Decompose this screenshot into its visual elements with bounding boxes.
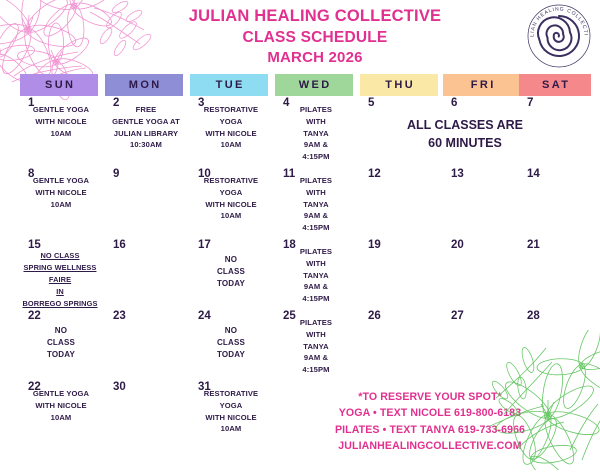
- day-event-line: WITH NICOLE: [26, 400, 96, 412]
- calendar-day-cell[interactable]: 13: [443, 167, 521, 238]
- spiral-icon: [538, 16, 579, 56]
- day-event-line: YOGA: [196, 116, 266, 128]
- day-event-line: 10AM: [26, 412, 96, 424]
- day-event-line: TANYA: [281, 199, 351, 211]
- day-event-line: FREE: [111, 104, 181, 116]
- day-event-line: RESTORATIVE: [196, 104, 266, 116]
- calendar-day-cell[interactable]: 20: [443, 238, 521, 309]
- day-event-line: PILATES: [281, 104, 351, 116]
- day-event-text: RESTORATIVEYOGAWITH NICOLE10AM: [196, 175, 266, 222]
- page-subtitle: CLASS SCHEDULE: [150, 28, 480, 48]
- day-event-line: NO: [196, 325, 266, 337]
- day-event-line: IN: [22, 286, 98, 298]
- all-classes-note-line-2: 60 MINUTES: [340, 134, 590, 152]
- day-event-line: GENTLE YOGA AT: [111, 116, 181, 128]
- day-event-text: FREEGENTLE YOGA ATJULIAN LIBRARY10:30AM: [111, 104, 181, 151]
- calendar-day-cell[interactable]: 22NOCLASSTODAY: [20, 309, 98, 380]
- day-event-line: 10AM: [196, 210, 266, 222]
- day-event-line: JULIAN LIBRARY: [111, 128, 181, 140]
- calendar-week-row: 15NO CLASSSPRING WELLNESS FAIREINBORREGO…: [0, 238, 600, 309]
- day-event-line: WITH NICOLE: [196, 128, 266, 140]
- calendar-day-cell[interactable]: 3RESTORATIVEYOGAWITH NICOLE10AM: [190, 96, 268, 167]
- day-event-text: PILATESWITHTANYA9AM &4:15PM: [281, 317, 351, 376]
- day-event-line: CLASS: [196, 266, 266, 278]
- weekday-header-row: SUNMONTUEWEDTHUFRISAT: [0, 74, 600, 96]
- day-event-line: 10AM: [26, 199, 96, 211]
- day-event-line: TANYA: [281, 341, 351, 353]
- calendar-day-cell[interactable]: 30: [105, 380, 183, 464]
- day-event-line: WITH NICOLE: [26, 116, 96, 128]
- calendar-week-row: 22NOCLASSTODAY2324NOCLASSTODAY25PILATESW…: [0, 309, 600, 380]
- day-event-text: PILATESWITHTANYA9AM &4:15PM: [281, 246, 351, 305]
- day-event-line: NO CLASS: [22, 250, 98, 262]
- day-event-line: 4:15PM: [281, 151, 351, 163]
- day-event-text: NOCLASSTODAY: [196, 325, 266, 361]
- day-event-line: 4:15PM: [281, 364, 351, 376]
- day-event-line: NO: [26, 325, 96, 337]
- day-number: 19: [368, 239, 381, 252]
- calendar-day-cell[interactable]: 28: [519, 309, 591, 380]
- weekday-header-sun: SUN: [20, 74, 98, 96]
- day-event-line: TODAY: [26, 349, 96, 361]
- day-number: 23: [113, 310, 126, 323]
- calendar-day-cell[interactable]: 22GENTLE YOGAWITH NICOLE10AM: [20, 380, 98, 464]
- calendar-day-cell[interactable]: 2FREEGENTLE YOGA ATJULIAN LIBRARY10:30AM: [105, 96, 183, 167]
- day-event-line: 10AM: [26, 128, 96, 140]
- weekday-header-wed: WED: [275, 74, 353, 96]
- calendar-day-cell[interactable]: 14: [519, 167, 591, 238]
- weekday-header-tue: TUE: [190, 74, 268, 96]
- calendar-day-cell[interactable]: 12: [360, 167, 438, 238]
- brand-logo: JULIAN HEALING COLLECTIVE: [526, 3, 592, 69]
- day-event-line: WITH: [281, 258, 351, 270]
- day-event-line: 10AM: [196, 139, 266, 151]
- day-event-text: NOCLASSTODAY: [26, 325, 96, 361]
- day-event-text: NOCLASSTODAY: [196, 254, 266, 290]
- calendar-day-cell[interactable]: 16: [105, 238, 183, 309]
- calendar-day-cell[interactable]: 23: [105, 309, 183, 380]
- footer-line-reserve: *TO RESERVE YOUR SPOT*: [285, 389, 575, 405]
- calendar-day-cell[interactable]: 31RESTORATIVEYOGAWITH NICOLE10AM: [190, 380, 268, 464]
- title-block: JULIAN HEALING COLLECTIVE CLASS SCHEDULE…: [150, 6, 480, 68]
- page-month: MARCH 2026: [150, 48, 480, 68]
- day-event-line: 4:15PM: [281, 293, 351, 305]
- calendar-day-cell[interactable]: 27: [443, 309, 521, 380]
- calendar-day-cell[interactable]: 8GENTLE YOGAWITH NICOLE10AM: [20, 167, 98, 238]
- day-event-text: NO CLASSSPRING WELLNESS FAIREINBORREGO S…: [22, 250, 98, 310]
- calendar-week-row: 8GENTLE YOGAWITH NICOLE10AM910RESTORATIV…: [0, 167, 600, 238]
- day-event-line: PILATES: [281, 175, 351, 187]
- weekday-header-mon: MON: [105, 74, 183, 96]
- calendar-day-cell[interactable]: 21: [519, 238, 591, 309]
- day-number: 16: [113, 239, 126, 252]
- day-event-text: GENTLE YOGAWITH NICOLE10AM: [26, 104, 96, 139]
- day-event-line: TANYA: [281, 270, 351, 282]
- day-event-line: 9AM &: [281, 281, 351, 293]
- day-event-line: YOGA: [196, 400, 266, 412]
- day-event-line: NO: [196, 254, 266, 266]
- day-number: 26: [368, 310, 381, 323]
- day-event-line: WITH NICOLE: [196, 412, 266, 424]
- day-number: 21: [527, 239, 540, 252]
- day-event-line: GENTLE YOGA: [26, 104, 96, 116]
- day-event-line: GENTLE YOGA: [26, 388, 96, 400]
- weekday-header-sat: SAT: [519, 74, 591, 96]
- day-event-line: PILATES: [281, 317, 351, 329]
- day-event-line: RESTORATIVE: [196, 388, 266, 400]
- day-event-line: RESTORATIVE: [196, 175, 266, 187]
- day-event-text: RESTORATIVEYOGAWITH NICOLE10AM: [196, 388, 266, 435]
- page-header: JULIAN HEALING COLLECTIVE CLASS SCHEDULE…: [0, 0, 600, 72]
- day-event-text: GENTLE YOGAWITH NICOLE10AM: [26, 175, 96, 210]
- day-number: 27: [451, 310, 464, 323]
- footer-line-yoga: YOGA • TEXT NICOLE 619-800-6183: [285, 405, 575, 421]
- calendar-day-cell[interactable]: 1GENTLE YOGAWITH NICOLE10AM: [20, 96, 98, 167]
- calendar-day-cell[interactable]: 18PILATESWITHTANYA9AM &4:15PM: [275, 238, 353, 309]
- day-event-line: YOGA: [196, 187, 266, 199]
- calendar-day-cell[interactable]: 11PILATESWITHTANYA9AM &4:15PM: [275, 167, 353, 238]
- day-event-line: GENTLE YOGA: [26, 175, 96, 187]
- calendar-day-cell[interactable]: 26: [360, 309, 438, 380]
- day-event-line: WITH NICOLE: [26, 187, 96, 199]
- weekday-header-fri: FRI: [443, 74, 521, 96]
- calendar-day-cell[interactable]: 9: [105, 167, 183, 238]
- day-event-line: SPRING WELLNESS FAIRE: [22, 262, 98, 286]
- contact-footer: *TO RESERVE YOUR SPOT* YOGA • TEXT NICOL…: [285, 389, 575, 455]
- day-event-text: GENTLE YOGAWITH NICOLE10AM: [26, 388, 96, 423]
- day-event-line: TODAY: [196, 278, 266, 290]
- day-number: 20: [451, 239, 464, 252]
- day-event-line: PILATES: [281, 246, 351, 258]
- calendar-day-cell[interactable]: 15NO CLASSSPRING WELLNESS FAIREINBORREGO…: [20, 238, 98, 309]
- day-event-line: CLASS: [196, 337, 266, 349]
- page-title: JULIAN HEALING COLLECTIVE: [150, 6, 480, 28]
- all-classes-note: ALL CLASSES ARE 60 MINUTES: [340, 116, 590, 152]
- day-number: 6: [451, 97, 457, 110]
- day-number: 30: [113, 381, 126, 394]
- day-number: 17: [198, 239, 211, 252]
- footer-line-pilates: PILATES • TEXT TANYA 619-733-6966: [285, 422, 575, 438]
- day-event-line: 4:15PM: [281, 222, 351, 234]
- day-event-text: PILATESWITHTANYA9AM &4:15PM: [281, 175, 351, 234]
- calendar-day-cell[interactable]: 25PILATESWITHTANYA9AM &4:15PM: [275, 309, 353, 380]
- day-number: 7: [527, 97, 533, 110]
- day-number: 5: [368, 97, 374, 110]
- day-event-line: 10:30AM: [111, 139, 181, 151]
- day-event-line: WITH NICOLE: [196, 199, 266, 211]
- day-event-text: RESTORATIVEYOGAWITH NICOLE10AM: [196, 104, 266, 151]
- calendar-day-cell[interactable]: 17NOCLASSTODAY: [190, 238, 268, 309]
- day-number: 22: [28, 310, 41, 323]
- day-number: 12: [368, 168, 381, 181]
- day-number: 14: [527, 168, 540, 181]
- day-number: 13: [451, 168, 464, 181]
- day-event-line: CLASS: [26, 337, 96, 349]
- day-number: 28: [527, 310, 540, 323]
- day-event-line: WITH: [281, 187, 351, 199]
- all-classes-note-line-1: ALL CLASSES ARE: [340, 116, 590, 134]
- day-event-line: 9AM &: [281, 210, 351, 222]
- day-event-line: 10AM: [196, 423, 266, 435]
- day-number: 9: [113, 168, 119, 181]
- day-event-line: WITH: [281, 329, 351, 341]
- day-event-line: TODAY: [196, 349, 266, 361]
- calendar-day-cell[interactable]: 10RESTORATIVEYOGAWITH NICOLE10AM: [190, 167, 268, 238]
- calendar-day-cell[interactable]: 19: [360, 238, 438, 309]
- day-event-line: 9AM &: [281, 352, 351, 364]
- weekday-header-thu: THU: [360, 74, 438, 96]
- day-number: 24: [198, 310, 211, 323]
- footer-line-website: JULIANHEALINGCOLLECTIVE.COM: [285, 438, 575, 454]
- calendar-day-cell[interactable]: 24NOCLASSTODAY: [190, 309, 268, 380]
